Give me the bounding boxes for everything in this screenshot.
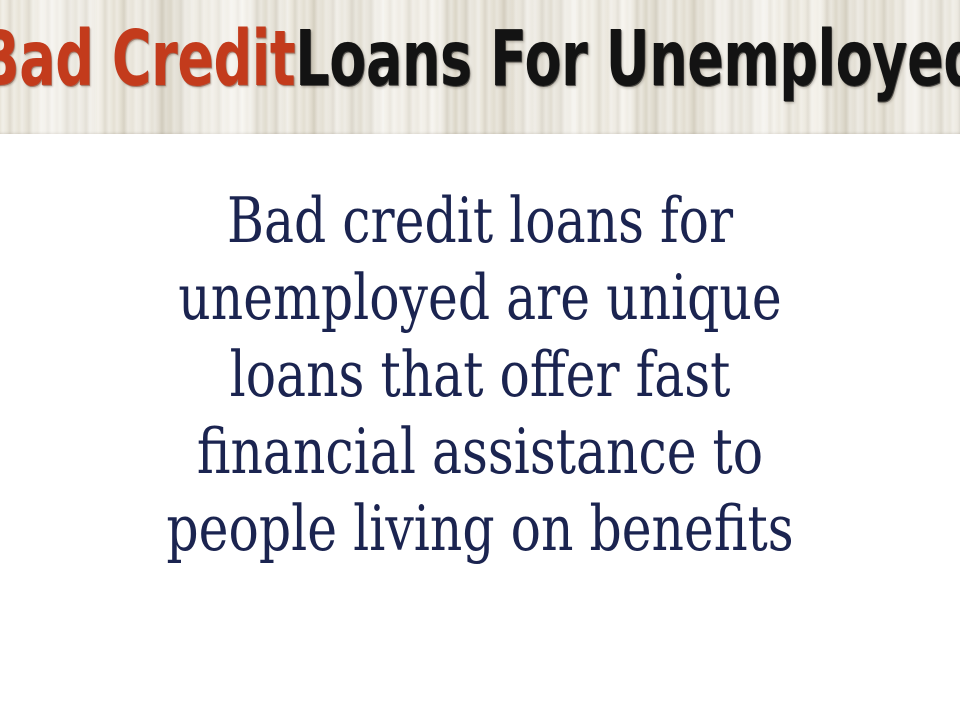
header-banner: Bad Credit Loans For Unemployed (0, 0, 960, 134)
banner-title-red: Bad Credit (0, 23, 295, 96)
slide-canvas: Bad Credit Loans For Unemployed Bad cred… (0, 0, 960, 720)
headline-line-3: loans that offer fast (144, 336, 816, 413)
headline-line-1: Bad credit loans for (144, 182, 816, 259)
banner-title: Bad Credit Loans For Unemployed (144, 15, 816, 105)
headline-line-2: unemployed are unique (144, 259, 816, 336)
banner-title-black: Loans For Unemployed (295, 23, 960, 96)
headline-paragraph: Bad credit loans for unemployed are uniq… (144, 182, 816, 567)
headline-line-4: financial assistance to (144, 413, 816, 490)
body-area: Bad credit loans for unemployed are uniq… (0, 134, 960, 720)
headline-line-5: people living on benefits (144, 490, 816, 567)
